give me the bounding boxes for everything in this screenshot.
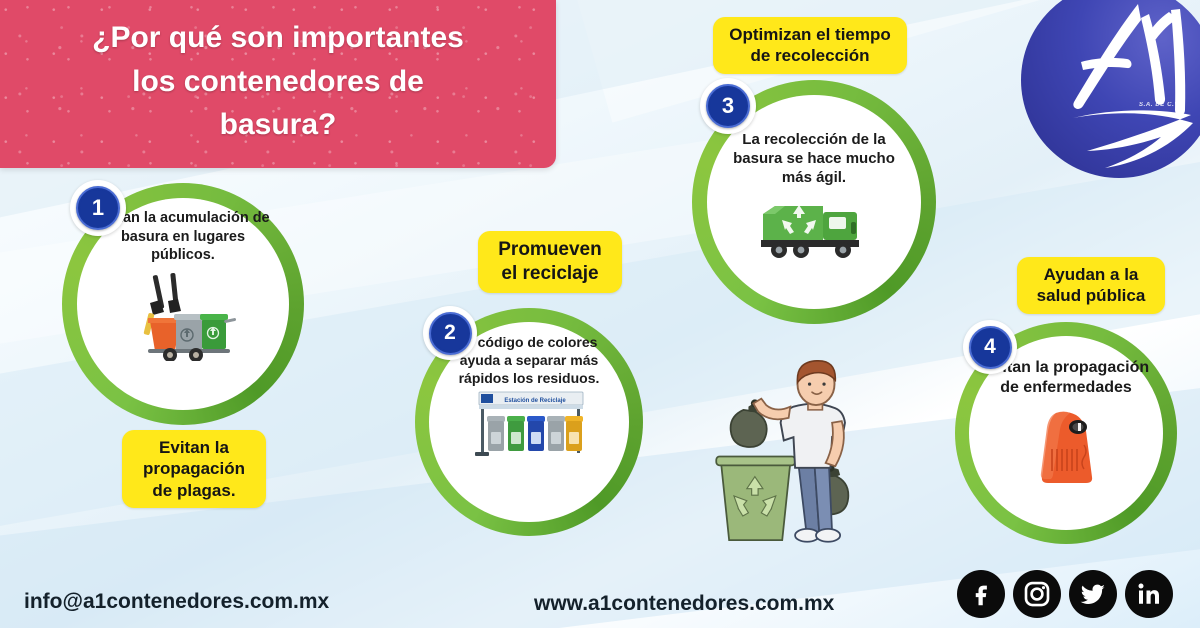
step-4-content: Evitan la propagación de enfermedades <box>971 358 1161 497</box>
step-1-content: Evitan la acumulación de basura en lugar… <box>83 209 283 361</box>
step-1-number: 1 <box>76 186 120 230</box>
facebook-icon[interactable] <box>957 570 1005 618</box>
step-1-badge: 1 <box>70 180 126 236</box>
logo-subtitle: S.A. DE C.V. <box>1139 102 1197 111</box>
step-3[interactable]: La recolección de la basura se hace much… <box>692 80 936 324</box>
man-throwing-garbage-bags-illustration <box>705 345 890 560</box>
step-4-label: Ayudan a la salud pública <box>1017 257 1165 314</box>
step-4-number: 4 <box>969 326 1012 369</box>
step-4[interactable]: Evitan la propagación de enfermedades 4 <box>955 322 1177 544</box>
a1-logo-mark <box>1021 0 1200 178</box>
page-title: ¿Por qué son importantes los contenedore… <box>0 0 556 147</box>
waste-cart-icon <box>128 269 238 361</box>
step-2-label: Promueven el reciclaje <box>478 231 622 293</box>
infographic-canvas: ¿Por qué son importantes los contenedore… <box>0 0 1200 628</box>
step-2[interactable]: El código de colores ayuda a separar más… <box>415 308 643 536</box>
svg-text:Estación de Reciclaje: Estación de Reciclaje <box>504 398 566 404</box>
instagram-glyph <box>1022 579 1052 609</box>
recycling-bins-row-icon: Estación de Reciclaje <box>465 390 593 460</box>
a1-logo[interactable]: S.A. DE C.V. <box>1021 0 1200 178</box>
orange-bin-icon <box>1020 405 1112 497</box>
step-3-content: La recolección de la basura se hace much… <box>714 130 914 260</box>
step-1-label: Evitan la propagación de plagas. <box>122 430 266 508</box>
page-title-line-3: basura? <box>28 103 528 147</box>
step-3-number: 3 <box>706 84 750 128</box>
twitter-icon[interactable] <box>1069 570 1117 618</box>
header-banner: ¿Por qué son importantes los contenedore… <box>0 0 556 168</box>
step-1[interactable]: Evitan la acumulación de basura en lugar… <box>62 183 304 425</box>
linkedin-icon[interactable] <box>1125 570 1173 618</box>
step-2-badge: 2 <box>423 306 477 360</box>
social-links <box>957 570 1173 618</box>
footer-email[interactable]: info@a1contenedores.com.mx <box>24 590 329 614</box>
footer-website[interactable]: www.a1contenedores.com.mx <box>534 592 834 616</box>
step-3-badge: 3 <box>700 78 756 134</box>
twitter-glyph <box>1078 579 1108 609</box>
step-4-badge: 4 <box>963 320 1017 374</box>
instagram-icon[interactable] <box>1013 570 1061 618</box>
facebook-glyph <box>966 579 996 609</box>
step-2-number: 2 <box>429 312 472 355</box>
step-3-text: La recolección de la basura se hace much… <box>714 130 914 188</box>
linkedin-glyph <box>1134 579 1164 609</box>
page-title-line-1: ¿Por qué son importantes <box>28 16 528 60</box>
step-3-label: Optimizan el tiempo de recolección <box>713 17 907 74</box>
page-title-line-2: los contenedores de <box>28 60 528 104</box>
garbage-truck-icon <box>755 198 873 260</box>
